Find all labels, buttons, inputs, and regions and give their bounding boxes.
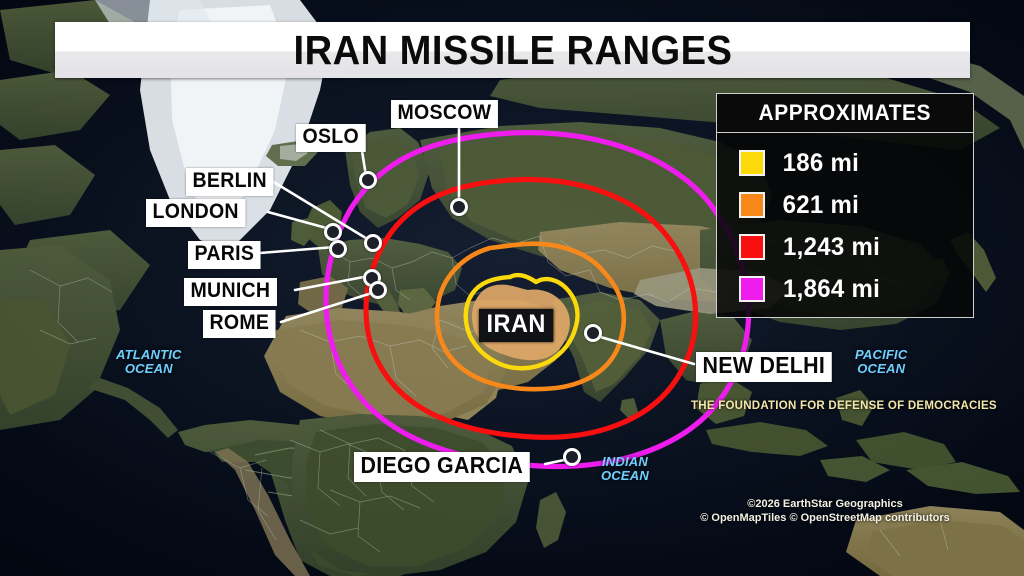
legend-item-1243: 1,243 mi	[739, 226, 973, 268]
legend-label-1864: 1,864 mi	[783, 275, 880, 304]
city-label-paris: PARIS	[188, 241, 261, 269]
city-marker-berlin	[364, 234, 382, 252]
attribution-line1: ©2026 EarthStar Geographics	[700, 497, 950, 511]
ocean-label-indian-line2: OCEAN	[601, 469, 649, 483]
color-swatch-1243	[739, 234, 765, 260]
map-infographic: IRAN MISSILE RANGES APPROXIMATES 186 mi …	[0, 0, 1024, 576]
source-credit: THE FOUNDATION FOR DEFENSE OF DEMOCRACIE…	[691, 400, 997, 412]
city-label-moscow: MOSCOW	[391, 100, 498, 128]
city-label-diego-garcia: DIEGO GARCIA	[354, 452, 530, 482]
city-marker-london	[324, 223, 342, 241]
color-swatch-1864	[739, 276, 765, 302]
map-attribution: ©2026 EarthStar Geographics © OpenMapTil…	[700, 497, 950, 525]
legend-label-1243: 1,243 mi	[783, 233, 880, 262]
legend-item-186: 186 mi	[739, 142, 973, 184]
city-label-new-delhi: NEW DELHI	[696, 352, 832, 382]
city-label-rome: ROME	[203, 310, 276, 338]
legend-label-621: 621 mi	[783, 191, 859, 220]
legend-title: APPROXIMATES	[759, 100, 932, 126]
title-banner: IRAN MISSILE RANGES	[55, 22, 970, 78]
city-label-oslo: OSLO	[296, 124, 365, 152]
ocean-label-pacific-line1: PACIFIC	[855, 348, 907, 362]
ocean-label-atlantic: ATLANTIC OCEAN	[116, 348, 182, 376]
ocean-label-indian-line1: INDIAN	[601, 455, 649, 469]
ocean-label-atlantic-line2: OCEAN	[116, 362, 182, 376]
attribution-line2: © OpenMapTiles © OpenStreetMap contribut…	[700, 511, 950, 525]
city-marker-rome	[369, 281, 387, 299]
city-marker-new-delhi	[584, 324, 602, 342]
country-label-iran: IRAN	[479, 309, 553, 342]
city-marker-moscow	[450, 198, 468, 216]
ocean-label-indian: INDIAN OCEAN	[601, 455, 649, 483]
city-marker-oslo	[359, 171, 377, 189]
legend-body: 186 mi 621 mi 1,243 mi 1,864 mi	[716, 133, 974, 318]
ocean-label-pacific-line2: OCEAN	[855, 362, 907, 376]
city-label-munich: MUNICH	[184, 278, 277, 306]
color-swatch-621	[739, 192, 765, 218]
legend-item-1864: 1,864 mi	[739, 268, 973, 310]
legend-label-186: 186 mi	[783, 149, 859, 178]
legend-item-621: 621 mi	[739, 184, 973, 226]
page-title: IRAN MISSILE RANGES	[293, 27, 732, 74]
city-label-berlin: BERLIN	[186, 168, 273, 196]
ocean-label-atlantic-line1: ATLANTIC	[116, 348, 182, 362]
legend-panel: APPROXIMATES 186 mi 621 mi 1,243 mi 1,86…	[716, 93, 974, 318]
ocean-label-pacific: PACIFIC OCEAN	[855, 348, 907, 376]
city-marker-paris	[329, 240, 347, 258]
color-swatch-186	[739, 150, 765, 176]
city-label-london: LONDON	[146, 199, 245, 227]
city-marker-diego-garcia	[563, 448, 581, 466]
legend-header: APPROXIMATES	[716, 93, 974, 133]
